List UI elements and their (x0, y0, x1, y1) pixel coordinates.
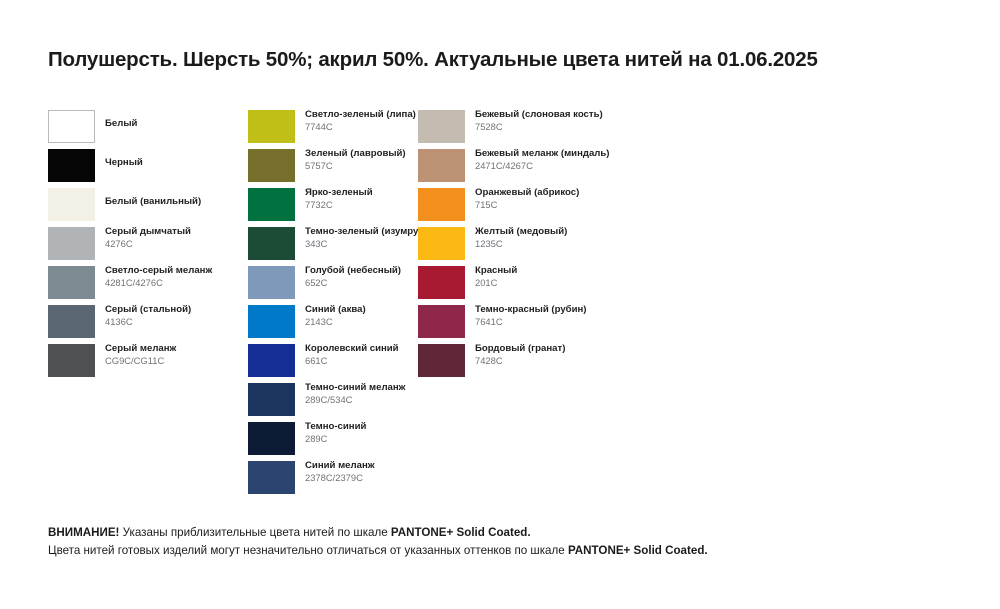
color-swatch[interactable] (48, 266, 95, 299)
swatch-labels: Бежевый меланж (миндаль)2471C/4267C (475, 148, 685, 172)
swatch-pantone-code: 289C/534C (305, 394, 515, 406)
color-swatch[interactable] (48, 344, 95, 377)
swatch-row[interactable]: Голубой (небесный)652C (248, 266, 418, 305)
swatch-pantone-code: 201C (475, 277, 685, 289)
pantone-reference-2: PANTONE+ Solid Coated. (568, 544, 708, 557)
color-swatch[interactable] (48, 188, 95, 221)
swatch-name: Синий меланж (305, 460, 515, 472)
swatch-row[interactable]: Серый меланжCG9C/CG11C (48, 344, 248, 383)
swatch-row[interactable]: Темно-красный (рубин)7641C (418, 305, 678, 344)
color-swatch[interactable] (48, 227, 95, 260)
color-swatch[interactable] (248, 188, 295, 221)
swatch-row[interactable]: Светло-серый меланж4281C/4276C (48, 266, 248, 305)
color-swatch[interactable] (418, 149, 465, 182)
footer-line-1-text: Указаны приблизительные цвета нитей по ш… (119, 526, 390, 539)
color-swatch[interactable] (248, 344, 295, 377)
color-chart-page: Полушерсть. Шерсть 50%; акрил 50%. Актуа… (0, 0, 1000, 609)
swatch-row[interactable]: Серый дымчатый4276C (48, 227, 248, 266)
color-swatch[interactable] (48, 110, 95, 143)
swatch-labels: Синий меланж2378C/2379C (305, 460, 515, 484)
swatch-row[interactable]: Желтый (медовый)1235C (418, 227, 678, 266)
swatch-pantone-code: 289C (305, 433, 515, 445)
swatch-row[interactable]: Зеленый (лавровый)5757C (248, 149, 418, 188)
color-swatch[interactable] (418, 344, 465, 377)
swatch-row[interactable]: Синий меланж2378C/2379C (248, 461, 418, 500)
swatch-name: Бежевый меланж (миндаль) (475, 148, 685, 160)
color-swatch[interactable] (248, 383, 295, 416)
swatch-name: Темно-синий (305, 421, 515, 433)
swatch-row[interactable]: Белый (48, 110, 248, 149)
swatch-row[interactable]: Светло-зеленый (липа)7744C (248, 110, 418, 149)
swatch-row[interactable]: Красный201C (418, 266, 678, 305)
swatch-labels: Темно-синий289C (305, 421, 515, 445)
color-swatch[interactable] (248, 266, 295, 299)
swatch-name: Темно-синий меланж (305, 382, 515, 394)
swatch-labels: Темно-синий меланж289C/534C (305, 382, 515, 406)
color-swatch[interactable] (418, 227, 465, 260)
swatch-labels: Красный201C (475, 265, 685, 289)
swatch-column-neutrals: БелыйЧерныйБелый (ванильный)Серый дымчат… (48, 110, 248, 383)
swatch-row[interactable]: Бежевый меланж (миндаль)2471C/4267C (418, 149, 678, 188)
color-swatch[interactable] (48, 305, 95, 338)
swatch-labels: Бордовый (гранат)7428C (475, 343, 685, 367)
footer-line-1: ВНИМАНИЕ! Указаны приблизительные цвета … (48, 524, 968, 542)
color-swatch[interactable] (418, 305, 465, 338)
swatch-row[interactable]: Королевский синий661C (248, 344, 418, 383)
swatch-labels: Желтый (медовый)1235C (475, 226, 685, 250)
swatch-row[interactable]: Темно-синий меланж289C/534C (248, 383, 418, 422)
swatch-row[interactable]: Темно-синий289C (248, 422, 418, 461)
swatch-row[interactable]: Темно-зеленый (изумруд)343C (248, 227, 418, 266)
swatch-name: Красный (475, 265, 685, 277)
swatch-pantone-code: 2471C/4267C (475, 160, 685, 172)
swatch-row[interactable]: Оранжевый (абрикос)715C (418, 188, 678, 227)
swatch-labels: Темно-красный (рубин)7641C (475, 304, 685, 328)
pantone-reference-1: PANTONE+ Solid Coated. (391, 526, 531, 539)
page-title: Полушерсть. Шерсть 50%; акрил 50%. Актуа… (48, 48, 968, 72)
swatch-name: Бордовый (гранат) (475, 343, 685, 355)
footer-line-2-text: Цвета нитей готовых изделий могут незнач… (48, 544, 568, 557)
swatch-row[interactable]: Синий (аква)2143C (248, 305, 418, 344)
swatch-name: Оранжевый (абрикос) (475, 187, 685, 199)
color-swatch[interactable] (248, 461, 295, 494)
swatch-pantone-code: 1235C (475, 238, 685, 250)
swatch-row[interactable]: Серый (стальной)4136C (48, 305, 248, 344)
swatch-labels: Бежевый (слоновая кость)7528C (475, 109, 685, 133)
color-swatch[interactable] (248, 149, 295, 182)
footer-line-2: Цвета нитей готовых изделий могут незнач… (48, 542, 968, 560)
color-swatch[interactable] (48, 149, 95, 182)
swatch-labels: Оранжевый (абрикос)715C (475, 187, 685, 211)
swatch-row[interactable]: Ярко-зеленый7732C (248, 188, 418, 227)
swatch-name: Темно-красный (рубин) (475, 304, 685, 316)
attention-label: ВНИМАНИЕ! (48, 526, 119, 539)
swatch-row[interactable]: Бежевый (слоновая кость)7528C (418, 110, 678, 149)
swatch-name: Желтый (медовый) (475, 226, 685, 238)
swatch-column-greens-blues: Светло-зеленый (липа)7744CЗеленый (лавро… (248, 110, 418, 500)
color-swatch[interactable] (418, 110, 465, 143)
swatch-pantone-code: 7641C (475, 316, 685, 328)
color-swatch[interactable] (418, 188, 465, 221)
swatch-column-warm-reds: Бежевый (слоновая кость)7528CБежевый мел… (418, 110, 678, 383)
swatch-pantone-code: 715C (475, 199, 685, 211)
color-swatch[interactable] (248, 227, 295, 260)
color-swatch[interactable] (418, 266, 465, 299)
swatch-pantone-code: 7528C (475, 121, 685, 133)
swatch-pantone-code: 2378C/2379C (305, 472, 515, 484)
swatch-row[interactable]: Белый (ванильный) (48, 188, 248, 227)
color-swatch[interactable] (248, 305, 295, 338)
swatch-name: Бежевый (слоновая кость) (475, 109, 685, 121)
color-swatch[interactable] (248, 422, 295, 455)
swatch-pantone-code: 7428C (475, 355, 685, 367)
color-swatch[interactable] (248, 110, 295, 143)
swatch-row[interactable]: Черный (48, 149, 248, 188)
swatch-row[interactable]: Бордовый (гранат)7428C (418, 344, 678, 383)
footer-note: ВНИМАНИЕ! Указаны приблизительные цвета … (48, 524, 968, 560)
